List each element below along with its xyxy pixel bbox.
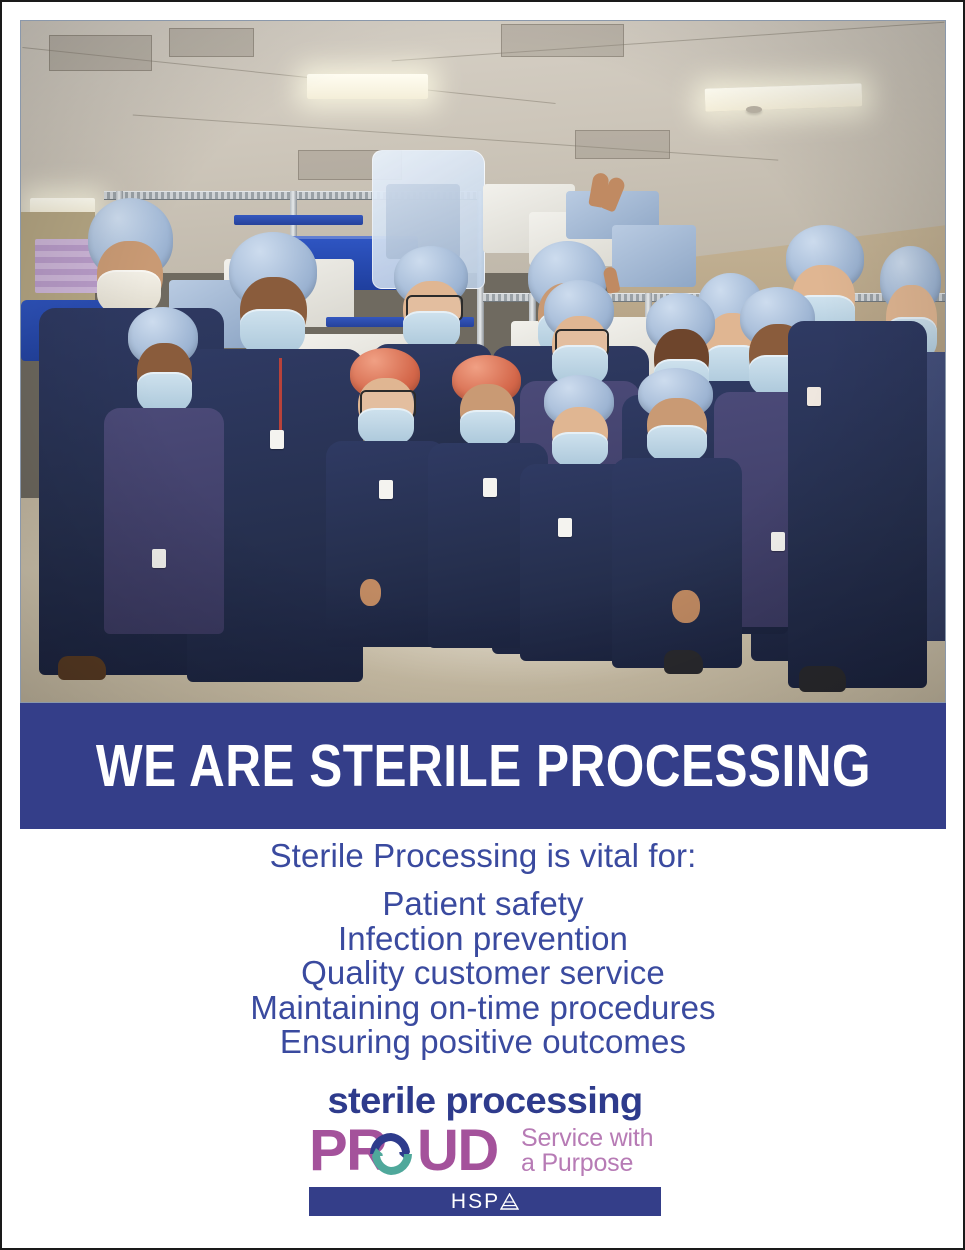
list-item: Patient safety	[20, 887, 946, 922]
list-item: Quality customer service	[20, 956, 946, 991]
photo-scene	[21, 21, 945, 702]
logo-proud-row: PR UD Service with a Purpose	[309, 1121, 661, 1183]
tagline-line-2: a Purpose	[521, 1151, 653, 1176]
triangle-a-icon	[500, 1193, 519, 1210]
hspa-letter-p: P	[484, 1191, 499, 1212]
hspa-bar: H S P	[309, 1187, 661, 1216]
team-photo	[20, 20, 946, 703]
hspa-sterile-processing-proud-logo: sterile processing PR UD Service with a …	[309, 1082, 661, 1216]
proud-text-post: UD	[417, 1121, 498, 1181]
hspa-wordmark: H S P	[451, 1191, 519, 1212]
banner-title: WE ARE STERILE PROCESSING	[95, 732, 870, 800]
body-copy: Sterile Processing is vital for: Patient…	[20, 835, 946, 1060]
list-item: Ensuring positive outcomes	[20, 1025, 946, 1060]
hspa-letter-h: H	[451, 1191, 467, 1212]
poster-page: WE ARE STERILE PROCESSING Sterile Proces…	[0, 0, 965, 1250]
list-item: Infection prevention	[20, 922, 946, 957]
benefits-list: Patient safety Infection prevention Qual…	[20, 887, 946, 1060]
recycle-arrows-icon	[366, 1129, 416, 1179]
photo-vignette	[21, 21, 945, 702]
logo-top-line: sterile processing	[304, 1082, 667, 1120]
headline-banner: WE ARE STERILE PROCESSING	[20, 703, 946, 829]
hspa-letter-s: S	[468, 1191, 483, 1212]
tagline-line-1: Service with	[521, 1126, 653, 1151]
list-item: Maintaining on-time procedures	[20, 991, 946, 1026]
logo-tagline: Service with a Purpose	[521, 1126, 653, 1176]
copy-lead: Sterile Processing is vital for:	[20, 835, 946, 877]
